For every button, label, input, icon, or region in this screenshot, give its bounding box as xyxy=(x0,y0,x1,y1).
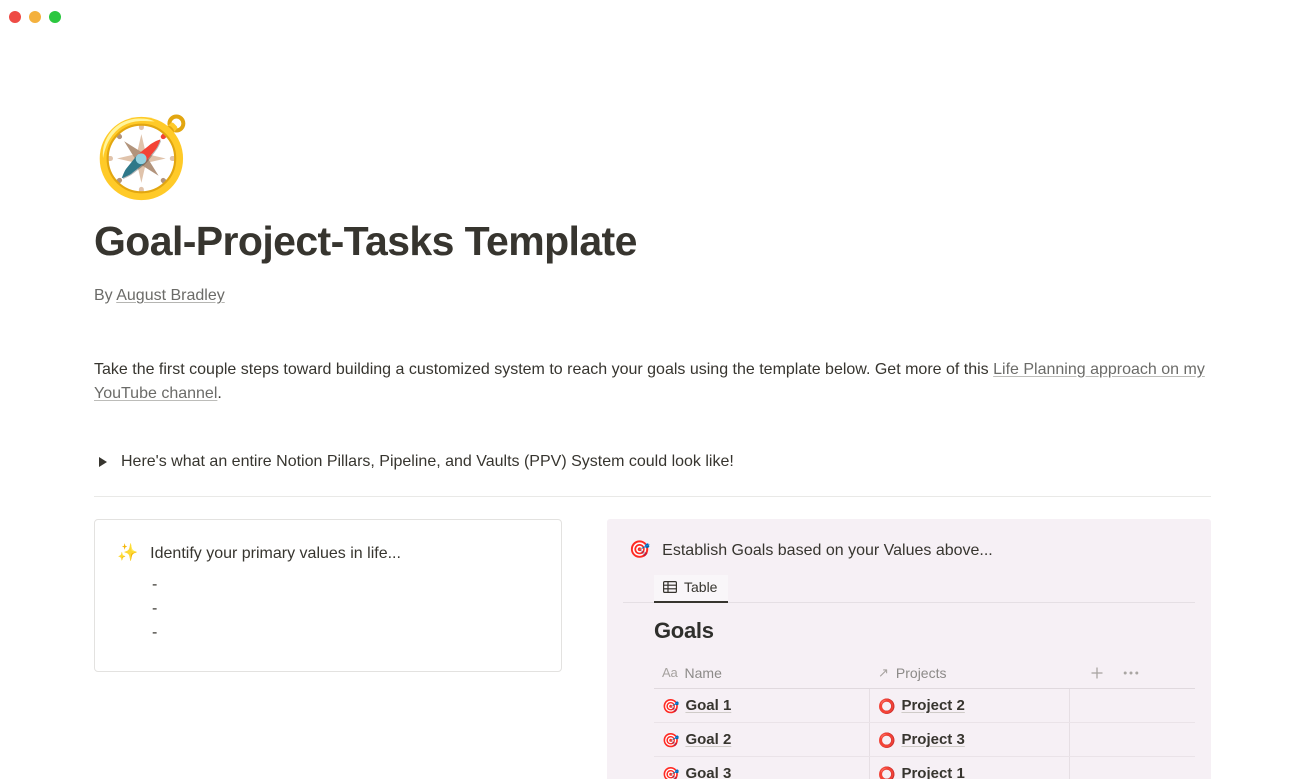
cell-projects[interactable]: ⭕ Project 1 xyxy=(870,757,1070,779)
two-column-layout: ✨ Identify your primary values in life..… xyxy=(94,519,1211,779)
page-title: Goal-Project-Tasks Template xyxy=(94,218,1211,265)
cell-name-label[interactable]: Goal 1 xyxy=(685,697,731,714)
column-header-name-label: Name xyxy=(685,665,722,681)
goals-panel-title: Establish Goals based on your Values abo… xyxy=(662,539,993,562)
view-tabs: Table xyxy=(623,575,1195,603)
intro-paragraph: Take the first couple steps toward build… xyxy=(94,358,1209,408)
table-header-row: Aa Name ↗ Projects xyxy=(654,657,1195,689)
cell-name-label[interactable]: Goal 2 xyxy=(685,731,731,748)
triangle-right-icon[interactable] xyxy=(94,450,112,474)
author-link[interactable]: August Bradley xyxy=(116,287,225,304)
sparkles-icon: ✨ xyxy=(117,542,138,565)
intro-text-end: . xyxy=(217,385,221,402)
direct-hit-icon: 🎯 xyxy=(662,733,679,747)
tab-table-label: Table xyxy=(684,579,717,595)
byline: By August Bradley xyxy=(94,285,1211,307)
direct-hit-icon: 🎯 xyxy=(629,539,650,561)
table-row[interactable]: 🎯 Goal 2 ⭕ Project 3 xyxy=(654,723,1195,757)
goals-column: 🎯 Establish Goals based on your Values a… xyxy=(607,519,1211,779)
compass-icon[interactable]: 🧭 xyxy=(94,118,176,200)
add-column-icon[interactable] xyxy=(1088,664,1106,682)
cell-name-label[interactable]: Goal 3 xyxy=(685,765,731,779)
relation-arrow-icon: ↗ xyxy=(878,665,889,681)
maximize-window-button[interactable] xyxy=(49,11,61,23)
byline-prefix: By xyxy=(94,287,116,304)
cell-name[interactable]: 🎯 Goal 2 xyxy=(654,723,870,756)
cell-project-label[interactable]: Project 3 xyxy=(901,731,964,748)
list-item[interactable]: - xyxy=(152,573,539,597)
toggle-label: Here's what an entire Notion Pillars, Pi… xyxy=(121,450,734,474)
cell-name[interactable]: 🎯 Goal 1 xyxy=(654,689,870,722)
table-row[interactable]: 🎯 Goal 1 ⭕ Project 2 xyxy=(654,689,1195,723)
section-divider xyxy=(94,496,1211,497)
intro-text-start: Take the first couple steps toward build… xyxy=(94,361,993,378)
values-column: ✨ Identify your primary values in life..… xyxy=(94,519,562,672)
direct-hit-icon: 🎯 xyxy=(662,699,679,713)
cell-projects[interactable]: ⭕ Project 2 xyxy=(870,689,1070,722)
cell-project-label[interactable]: Project 1 xyxy=(901,765,964,779)
cell-projects[interactable]: ⭕ Project 3 xyxy=(870,723,1070,756)
red-circle-icon: ⭕ xyxy=(878,699,895,713)
cell-empty[interactable] xyxy=(1070,689,1195,722)
table-icon xyxy=(663,580,677,594)
list-item[interactable]: - xyxy=(152,621,539,645)
tab-table[interactable]: Table xyxy=(654,575,728,603)
title-type-icon: Aa xyxy=(662,665,678,680)
page-content: 🧭 Goal-Project-Tasks Template By August … xyxy=(0,118,1305,779)
database-title: Goals xyxy=(654,618,1195,644)
more-options-icon[interactable] xyxy=(1122,664,1140,682)
window-title-bar xyxy=(0,0,1305,34)
collapsible-toggle[interactable]: Here's what an entire Notion Pillars, Pi… xyxy=(94,450,1211,474)
table-header-actions xyxy=(1070,664,1140,682)
cell-empty[interactable] xyxy=(1070,723,1195,756)
goals-panel-header: 🎯 Establish Goals based on your Values a… xyxy=(623,539,1195,562)
values-list: - - - xyxy=(117,573,539,645)
close-window-button[interactable] xyxy=(9,11,21,23)
column-header-projects-label: Projects xyxy=(896,665,947,681)
values-card-title: Identify your primary values in life... xyxy=(150,542,401,565)
red-circle-icon: ⭕ xyxy=(878,733,895,747)
values-card-header: ✨ Identify your primary values in life..… xyxy=(117,542,539,565)
column-header-projects[interactable]: ↗ Projects xyxy=(870,657,1070,688)
red-circle-icon: ⭕ xyxy=(878,767,895,779)
values-card[interactable]: ✨ Identify your primary values in life..… xyxy=(94,519,562,672)
minimize-window-button[interactable] xyxy=(29,11,41,23)
table-row[interactable]: 🎯 Goal 3 ⭕ Project 1 xyxy=(654,757,1195,779)
direct-hit-icon: 🎯 xyxy=(662,767,679,779)
cell-empty[interactable] xyxy=(1070,757,1195,779)
goals-panel: 🎯 Establish Goals based on your Values a… xyxy=(607,519,1211,779)
list-item[interactable]: - xyxy=(152,597,539,621)
column-header-name[interactable]: Aa Name xyxy=(654,657,870,688)
cell-project-label[interactable]: Project 2 xyxy=(901,697,964,714)
cell-name[interactable]: 🎯 Goal 3 xyxy=(654,757,870,779)
goals-table: Aa Name ↗ Projects xyxy=(654,657,1195,779)
